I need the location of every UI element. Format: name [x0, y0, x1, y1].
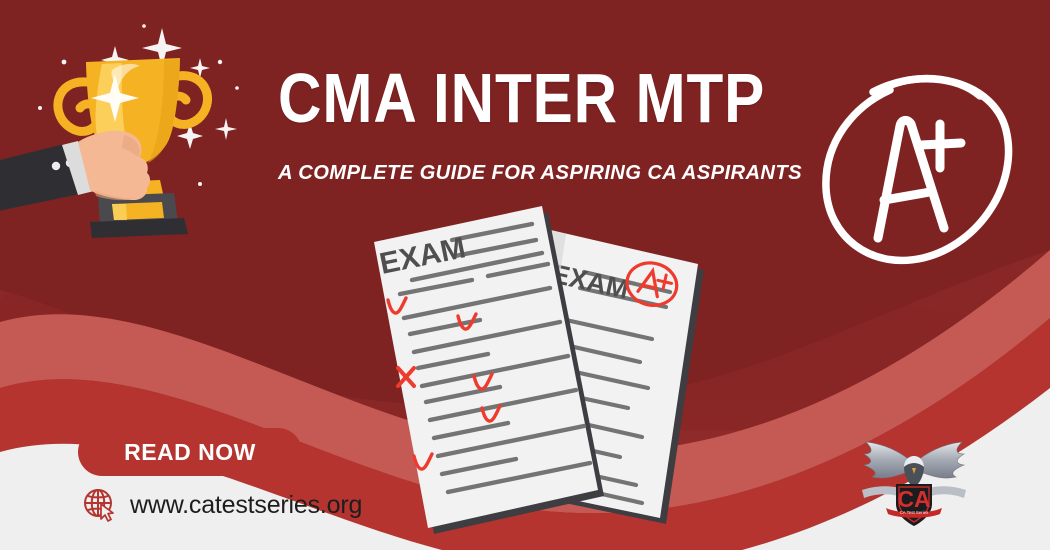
grade-badge — [818, 58, 1036, 280]
trophy-illustration — [0, 18, 262, 240]
logo-shield: CA — [896, 484, 932, 526]
globe-icon — [82, 487, 118, 523]
website-row[interactable]: www.catestseries.org — [82, 487, 362, 523]
promo-banner: CMA INTER MTP A COMPLETE GUIDE FOR ASPIR… — [0, 0, 1050, 550]
circle-scribble — [826, 79, 1009, 261]
brand-logo: CA CA Test Series — [852, 432, 976, 528]
website-url[interactable]: www.catestseries.org — [130, 491, 362, 520]
page-subtitle: A COMPLETE GUIDE FOR ASPIRING CA ASPIRAN… — [278, 160, 790, 186]
logo-tagline: CA Test Series — [900, 510, 930, 515]
headline-block: CMA INTER MTP A COMPLETE GUIDE FOR ASPIR… — [278, 62, 798, 186]
exam-papers-illustration: EXAM EXAM — [352, 206, 720, 536]
read-now-button[interactable]: READ NOW — [78, 428, 302, 476]
eagle-body — [904, 456, 924, 488]
page-title: CMA INTER MTP — [278, 62, 725, 134]
trophy-base — [90, 193, 188, 238]
grade-letter — [878, 120, 944, 238]
logo-monogram: CA — [897, 486, 930, 512]
